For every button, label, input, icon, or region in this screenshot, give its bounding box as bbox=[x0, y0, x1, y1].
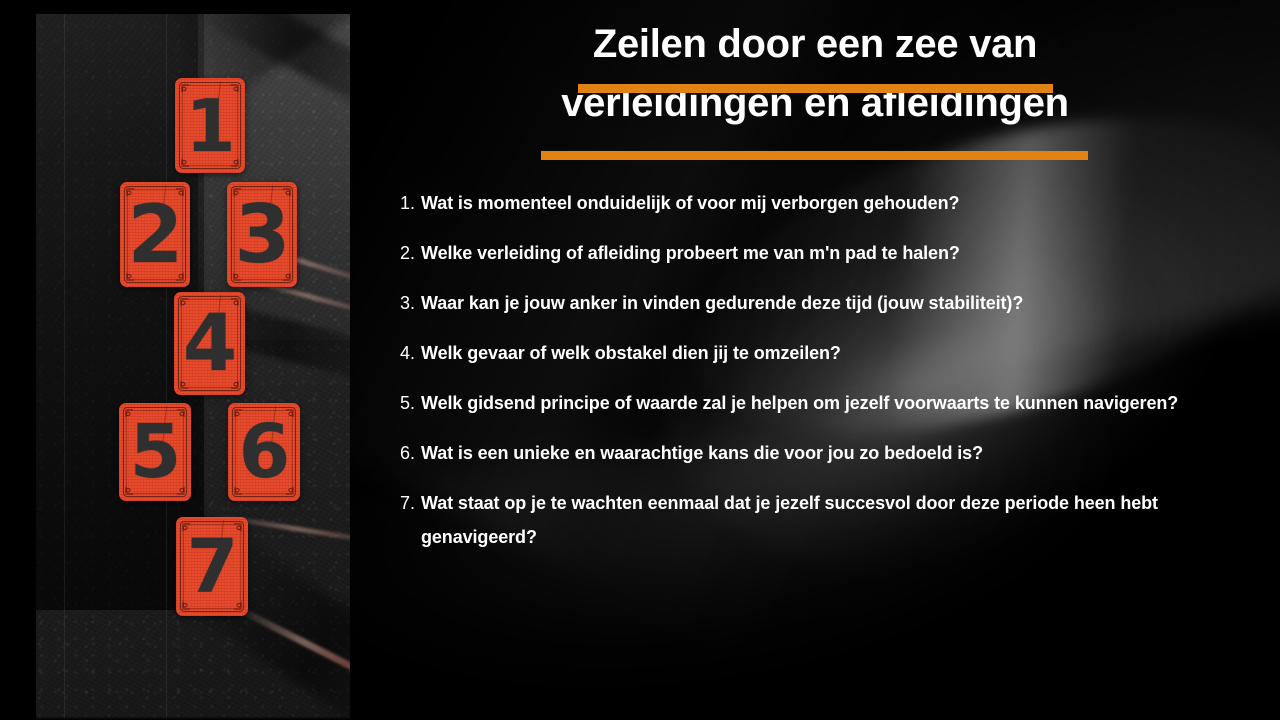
list-item: 1. Wat is momenteel onduidelijk of voor … bbox=[400, 186, 1235, 220]
list-item-marker: 4. bbox=[400, 336, 421, 370]
list-item-text: Wat staat op je te wachten eenmaal dat j… bbox=[421, 486, 1235, 554]
number-card-6: 6 bbox=[228, 403, 300, 501]
card-number-label: 1 bbox=[175, 78, 245, 173]
list-item: 6. Wat is een unieke en waarachtige kans… bbox=[400, 436, 1235, 470]
list-item: 2. Welke verleiding of afleiding probeer… bbox=[400, 236, 1235, 270]
card-number-label: 7 bbox=[176, 517, 248, 616]
title-underline-1 bbox=[578, 84, 1053, 93]
list-item-marker: 2. bbox=[400, 236, 421, 270]
list-item: 3. Waar kan je jouw anker in vinden gedu… bbox=[400, 286, 1235, 320]
number-card-1: 1 bbox=[175, 78, 245, 173]
list-item-marker: 3. bbox=[400, 286, 421, 320]
number-card-2: 2 bbox=[120, 182, 190, 287]
title-line-1: Zeilen door een zee van bbox=[350, 24, 1280, 64]
number-card-3: 3 bbox=[227, 182, 297, 287]
question-list: 1. Wat is momenteel onduidelijk of voor … bbox=[400, 186, 1235, 570]
card-number-label: 6 bbox=[228, 403, 300, 501]
number-card-4: 4 bbox=[174, 292, 245, 395]
list-item: 7. Wat staat op je te wachten eenmaal da… bbox=[400, 486, 1235, 554]
title-underline-2 bbox=[541, 151, 1088, 160]
photo-bottom-edge bbox=[36, 716, 350, 720]
number-card-5: 5 bbox=[119, 403, 191, 501]
list-item-marker: 7. bbox=[400, 486, 421, 520]
card-number-label: 2 bbox=[120, 182, 190, 287]
list-item-text: Wat is momenteel onduidelijk of voor mij… bbox=[421, 186, 1235, 220]
card-number-label: 3 bbox=[227, 182, 297, 287]
list-item-text: Welk gidsend principe of waarde zal je h… bbox=[421, 386, 1235, 420]
list-item-text: Welke verleiding of afleiding probeert m… bbox=[421, 236, 1235, 270]
photo-seam bbox=[64, 0, 65, 720]
list-item-marker: 5. bbox=[400, 386, 421, 420]
slide: 1 2 bbox=[0, 0, 1280, 720]
numbered-cards-photo: 1 2 bbox=[36, 0, 350, 720]
list-item-text: Wat is een unieke en waarachtige kans di… bbox=[421, 436, 1235, 470]
list-item-text: Welk gevaar of welk obstakel dien jij te… bbox=[421, 336, 1235, 370]
photo-seam bbox=[166, 0, 167, 720]
card-number-label: 5 bbox=[119, 403, 191, 501]
list-item-text: Waar kan je jouw anker in vinden geduren… bbox=[421, 286, 1235, 320]
list-item: 4. Welk gevaar of welk obstakel dien jij… bbox=[400, 336, 1235, 370]
slide-title: Zeilen door een zee van verleidingen en … bbox=[350, 24, 1280, 123]
card-number-label: 4 bbox=[174, 292, 245, 395]
list-item: 5. Welk gidsend principe of waarde zal j… bbox=[400, 386, 1235, 420]
list-item-marker: 6. bbox=[400, 436, 421, 470]
slide-content: Zeilen door een zee van verleidingen en … bbox=[350, 0, 1280, 720]
photo-top-edge bbox=[36, 0, 350, 14]
list-item-marker: 1. bbox=[400, 186, 421, 220]
number-card-7: 7 bbox=[176, 517, 248, 616]
